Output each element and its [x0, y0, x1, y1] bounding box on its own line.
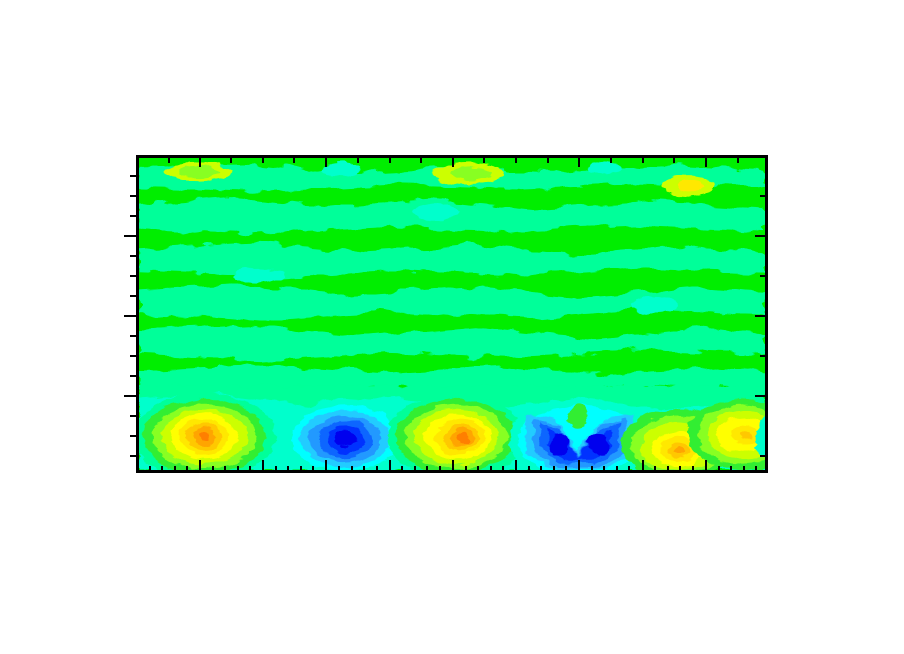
x-top-major-tick	[705, 156, 707, 167]
x-top-minor-tick	[420, 156, 422, 163]
x-top-minor-tick	[642, 156, 644, 163]
x-minor-tick	[439, 466, 441, 473]
y-right-major-tick	[755, 235, 767, 237]
y-right-minor-tick	[760, 195, 767, 197]
y-minor-tick	[130, 215, 137, 217]
x-minor-tick	[312, 466, 314, 473]
x-minor-tick	[275, 466, 277, 473]
contour-field	[139, 158, 765, 470]
x-top-minor-tick	[673, 156, 675, 163]
x-top-major-tick	[325, 156, 327, 167]
y-minor-tick	[130, 375, 137, 377]
x-top-minor-tick	[357, 156, 359, 163]
x-minor-tick	[490, 466, 492, 473]
x-minor-tick	[565, 466, 567, 473]
y-minor-tick	[130, 355, 137, 357]
x-minor-tick	[755, 466, 757, 473]
x-top-minor-tick	[168, 156, 170, 163]
x-minor-tick	[212, 466, 214, 473]
x-minor-tick	[237, 466, 239, 473]
y-right-minor-tick	[760, 455, 767, 457]
y-minor-tick	[130, 295, 137, 297]
x-major-tick	[389, 460, 391, 473]
x-minor-tick	[718, 466, 720, 473]
figure-canvas	[0, 0, 904, 654]
x-minor-tick	[249, 466, 251, 473]
y-minor-tick	[130, 275, 137, 277]
x-major-tick	[452, 460, 454, 473]
y-minor-tick	[130, 175, 137, 177]
x-minor-tick	[654, 466, 656, 473]
x-top-major-tick	[199, 156, 201, 167]
contour-plot-area	[136, 155, 768, 473]
y-minor-tick	[130, 415, 137, 417]
x-top-minor-tick	[262, 156, 264, 163]
x-minor-tick	[667, 466, 669, 473]
y-right-minor-tick	[760, 275, 767, 277]
x-minor-tick	[692, 466, 694, 473]
x-major-tick	[262, 460, 264, 473]
x-minor-tick	[363, 466, 365, 473]
x-minor-tick	[287, 466, 289, 473]
x-minor-tick	[502, 466, 504, 473]
x-major-tick	[578, 460, 580, 473]
x-top-minor-tick	[737, 156, 739, 163]
y-minor-tick	[130, 455, 137, 457]
y-minor-tick	[130, 335, 137, 337]
y-minor-tick	[130, 195, 137, 197]
convection-cells	[139, 386, 765, 470]
x-top-minor-tick	[293, 156, 295, 163]
x-minor-tick	[401, 466, 403, 473]
x-top-minor-tick	[610, 156, 612, 163]
x-minor-tick	[351, 466, 353, 473]
x-minor-tick	[465, 466, 467, 473]
x-minor-tick	[300, 466, 302, 473]
x-minor-tick	[528, 466, 530, 473]
x-minor-tick	[553, 466, 555, 473]
x-top-major-tick	[578, 156, 580, 167]
x-minor-tick	[149, 466, 151, 473]
x-major-tick	[199, 460, 201, 473]
x-top-minor-tick	[389, 156, 391, 163]
x-top-minor-tick	[515, 156, 517, 163]
x-major-tick	[642, 460, 644, 473]
x-minor-tick	[186, 466, 188, 473]
x-top-minor-tick	[230, 156, 232, 163]
x-minor-tick	[338, 466, 340, 473]
x-minor-tick	[161, 466, 163, 473]
x-minor-tick	[679, 466, 681, 473]
x-major-tick	[515, 460, 517, 473]
x-top-minor-tick	[547, 156, 549, 163]
y-major-tick	[124, 235, 137, 237]
x-top-major-tick	[452, 156, 454, 167]
x-minor-tick	[603, 466, 605, 473]
x-top-minor-tick	[483, 156, 485, 163]
x-minor-tick	[426, 466, 428, 473]
y-minor-tick	[130, 435, 137, 437]
y-right-major-tick	[755, 395, 767, 397]
x-major-tick	[325, 460, 327, 473]
x-minor-tick	[174, 466, 176, 473]
x-minor-tick	[743, 466, 745, 473]
x-minor-tick	[616, 466, 618, 473]
x-minor-tick	[376, 466, 378, 473]
y-major-tick	[124, 395, 137, 397]
y-right-major-tick	[755, 315, 767, 317]
x-minor-tick	[224, 466, 226, 473]
y-major-tick	[124, 315, 137, 317]
x-minor-tick	[591, 466, 593, 473]
x-minor-tick	[477, 466, 479, 473]
x-major-tick	[705, 460, 707, 473]
y-minor-tick	[130, 255, 137, 257]
x-minor-tick	[540, 466, 542, 473]
x-minor-tick	[414, 466, 416, 473]
x-minor-tick	[730, 466, 732, 473]
x-minor-tick	[628, 466, 630, 473]
y-right-minor-tick	[760, 355, 767, 357]
